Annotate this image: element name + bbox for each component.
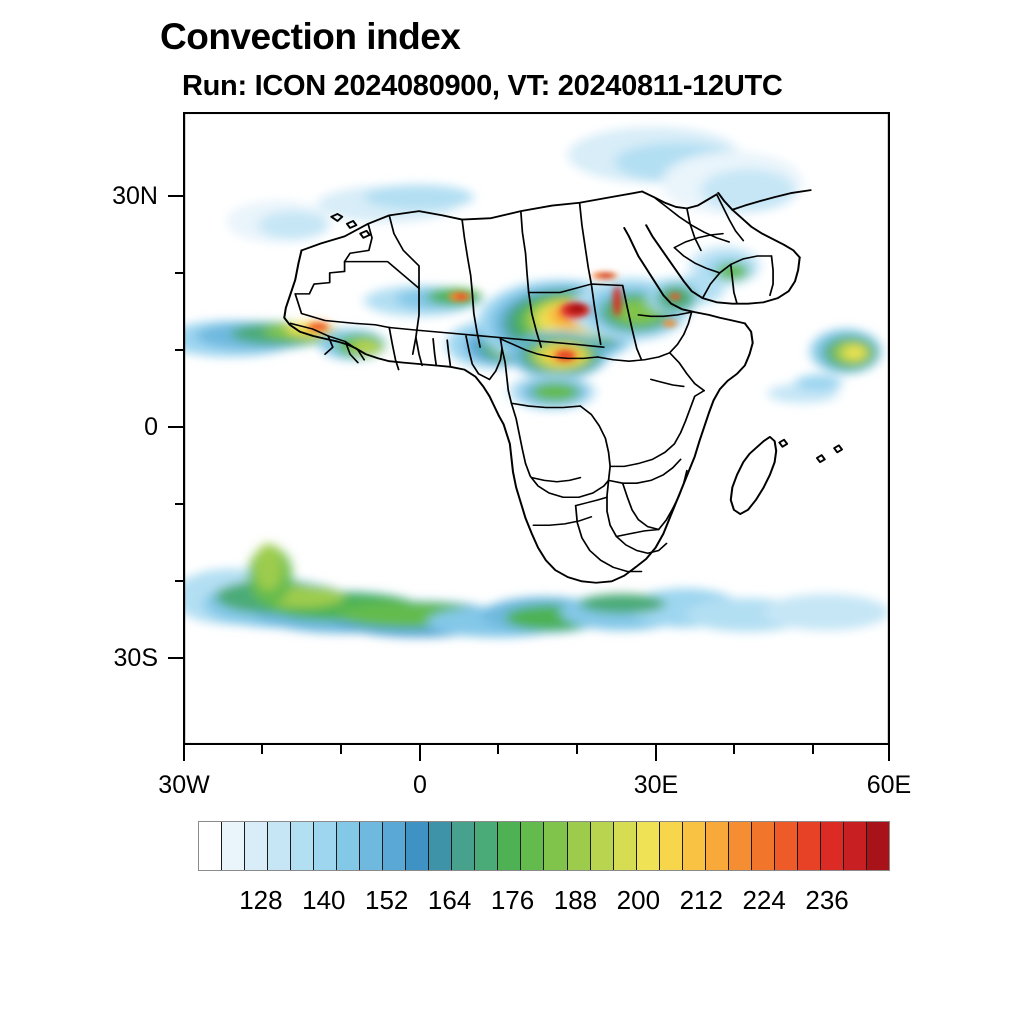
colorbar-cell — [521, 822, 544, 870]
x-axis-label-60e: 60E — [839, 771, 939, 800]
x-tick-30e — [655, 745, 657, 761]
colorbar-cell — [844, 822, 867, 870]
page-subtitle: Run: ICON 2024080900, VT: 20240811-12UTC — [182, 70, 783, 103]
colorbar-cell — [429, 822, 452, 870]
x-tick-60e — [888, 745, 890, 761]
colorbar-cell — [199, 822, 222, 870]
x-tick-0 — [419, 745, 421, 761]
y-axis-label-0: 0 — [58, 413, 158, 442]
x-tick-20w — [261, 745, 263, 754]
colorbar-cell — [591, 822, 614, 870]
x-axis-label-30w: 30W — [134, 771, 234, 800]
x-tick-50e — [812, 745, 814, 754]
map-plot-area — [183, 112, 890, 745]
colorbar-cell — [775, 822, 798, 870]
x-tick-30w — [183, 745, 185, 761]
colorbar-cell — [245, 822, 268, 870]
colorbar-cell — [568, 822, 591, 870]
colorbar-cell — [337, 822, 360, 870]
y-axis-label-30n: 30N — [58, 182, 158, 211]
colorbar-cell — [798, 822, 821, 870]
colorbar-tick-label: 236 — [777, 885, 877, 916]
y-axis-label-30s: 30S — [58, 644, 158, 673]
x-tick-20e — [576, 745, 578, 754]
y-tick-30s — [168, 657, 183, 659]
colorbar-cell — [637, 822, 660, 870]
colorbar — [198, 821, 890, 871]
colorbar-cell — [729, 822, 752, 870]
colorbar-cell — [683, 822, 706, 870]
colorbar-cell — [498, 822, 521, 870]
colorbar-cell — [383, 822, 406, 870]
x-axis-label-0: 0 — [370, 771, 470, 800]
convection-map — [184, 113, 889, 744]
colorbar-cell — [752, 822, 775, 870]
y-tick-10s — [175, 503, 183, 505]
colorbar-cell — [291, 822, 314, 870]
colorbar-cell — [614, 822, 637, 870]
y-tick-30n — [168, 195, 183, 197]
colorbar-cell — [406, 822, 429, 870]
y-tick-20n — [175, 272, 183, 274]
colorbar-cell — [821, 822, 844, 870]
figure-root: Convection index Run: ICON 2024080900, V… — [0, 0, 1024, 1024]
colorbar-cell — [475, 822, 498, 870]
x-tick-10e — [497, 745, 499, 754]
colorbar-cell — [706, 822, 729, 870]
x-tick-40e — [733, 745, 735, 754]
y-tick-20s — [175, 580, 183, 582]
x-axis-label-30e: 30E — [606, 771, 706, 800]
colorbar-cell — [660, 822, 683, 870]
colorbar-cell — [544, 822, 567, 870]
colorbar-cell — [452, 822, 475, 870]
colorbar-cell — [867, 822, 889, 870]
page-title: Convection index — [160, 16, 460, 58]
colorbar-cell — [268, 822, 291, 870]
colorbar-cell — [314, 822, 337, 870]
x-tick-10w — [340, 745, 342, 754]
colorbar-cell — [360, 822, 383, 870]
y-tick-10n — [175, 349, 183, 351]
colorbar-cell — [222, 822, 245, 870]
y-tick-0 — [168, 426, 183, 428]
